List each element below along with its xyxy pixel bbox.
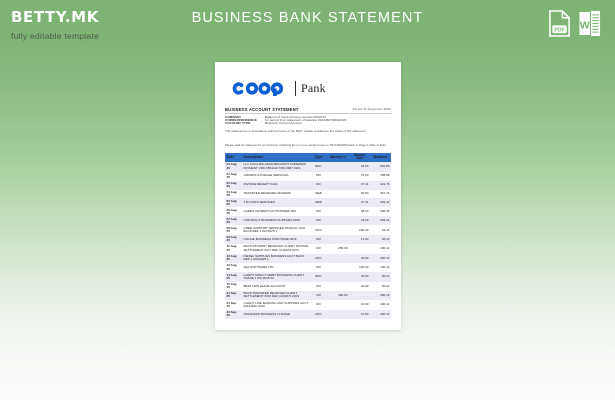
statement-document: Pank BUSINESS ACCOUNT STATEMENT Period 3… xyxy=(215,62,401,330)
cell-money-in xyxy=(327,313,349,315)
cell-type: DD xyxy=(310,173,327,179)
page-title: BUSINESS BANK STATEMENT xyxy=(0,10,615,26)
cell-description: DIESEL SUPPLIES BUSINESS ACCT BACS REF 1… xyxy=(242,254,310,263)
cell-type: DD xyxy=(310,265,327,271)
transactions-table: Date Description Type Money In Money Out… xyxy=(225,153,391,319)
brand-tagline: fully editable template xyxy=(11,31,99,41)
svg-text:PDF: PDF xyxy=(554,27,564,33)
cell-date: 13 Aug 25 xyxy=(225,263,242,272)
cell-money-in xyxy=(327,266,349,268)
cell-money-out: 60.00 xyxy=(349,191,370,197)
cell-money-out: 43.29 xyxy=(349,218,370,224)
cell-money-out: 74.00 xyxy=(349,173,370,179)
top-banner: BETTY.MK fully editable template BUSINES… xyxy=(0,0,615,56)
cell-type: DD xyxy=(310,302,327,308)
cell-date: 14 Aug 25 xyxy=(225,272,242,281)
cell-balance: 40.14 xyxy=(370,237,391,243)
cell-type: BAC xyxy=(310,164,327,170)
file-format-icons: PDF W xyxy=(548,10,601,37)
table-row: 01 Aug 25GRANDS STORAGE SERVICESDD74.004… xyxy=(225,172,391,181)
table-row: 11 Aug 25BACS PAYMENT RECEIVED CLIENT IN… xyxy=(225,244,391,254)
cell-money-out: 27.31 xyxy=(349,200,370,206)
bank-name: Pank xyxy=(301,81,326,96)
table-row: 02 Aug 25INVOICE RECEIPT 1021DD37.14421.… xyxy=(225,181,391,190)
table-row: 21 Sep 25BACS TRANSFER RECEIVED CLIENT S… xyxy=(225,291,391,301)
cell-description: STANDARD BUSINESS CHARGE xyxy=(242,311,310,317)
table-row: 04 Aug 25TRANSFER RECEIVED 21042026DEB60… xyxy=(225,190,391,199)
cell-balance: 450.14 xyxy=(370,293,391,299)
cell-money-in xyxy=(327,304,349,306)
cell-money-out: 37.14 xyxy=(349,182,370,188)
cell-money-in xyxy=(327,166,349,168)
cell-money-in xyxy=(327,276,349,278)
cell-description: TRANSFER RECEIVED 21042026 xyxy=(242,191,310,197)
column-header-date: Date xyxy=(225,155,242,161)
cell-description: LLC KOOL BALANCE BROUGHT FORWARD PAYMENT… xyxy=(242,162,310,171)
account-details-block: COMPANY CORRESPONDENCE ACCOUNT TYPE Bala… xyxy=(225,116,391,125)
cell-date: 04 Aug 25 xyxy=(225,190,242,199)
table-row: 12 Aug 25DIESEL SUPPLIES BUSINESS ACCT B… xyxy=(225,254,391,264)
cell-description: INVOICE RECEIPT 1021 xyxy=(242,182,310,188)
column-header-money-in: Money In xyxy=(327,155,349,161)
cell-balance: 296.43 xyxy=(370,209,391,215)
cell-balance: 361.74 xyxy=(370,191,391,197)
cell-money-in xyxy=(327,202,349,204)
table-row: 15 Aug 25BERT LEW LEASE ACCOUNTDD40.0050… xyxy=(225,282,391,291)
cell-balance: 130.14 xyxy=(370,265,391,271)
cell-money-in xyxy=(327,193,349,195)
table-row: 07 Aug 25CONTRACT BUSINESS SUPPLIES 0015… xyxy=(225,216,391,225)
cell-type: DD xyxy=(310,182,327,188)
cell-money-in xyxy=(327,257,349,259)
cell-type: DEB xyxy=(310,200,327,206)
cell-balance: 290.14 xyxy=(370,246,391,252)
cell-description: CLIENT LINE BANKING AND SUPPLIES ACCT 00… xyxy=(242,301,310,310)
svg-text:W: W xyxy=(580,19,590,31)
cell-type: FPO xyxy=(310,227,327,233)
cell-date: 07 Aug 25 xyxy=(225,216,242,225)
cell-date: 23 Sep 25 xyxy=(225,310,242,319)
word-file-icon[interactable]: W xyxy=(578,10,601,37)
cell-balance: 458.88 xyxy=(370,173,391,179)
cell-money-in: 400.00 xyxy=(327,293,349,299)
cell-description: CARDS PAYMENT AUTHORISED 003 xyxy=(242,209,310,215)
table-row: 13 Aug 25AZA SOFTWARE LTDDD120.00130.14 xyxy=(225,263,391,272)
cell-money-in: 250.00 xyxy=(327,246,349,252)
bank-logo: Pank xyxy=(231,80,326,97)
cell-date: 12 Aug 25 xyxy=(225,254,242,263)
pdf-file-icon[interactable]: PDF xyxy=(548,10,571,37)
cell-money-out: 40.00 xyxy=(349,283,370,289)
coop-wordmark-icon xyxy=(231,80,289,97)
table-header-row: Date Description Type Money In Money Out… xyxy=(225,153,391,162)
cell-date: 02 Aug 25 xyxy=(225,181,242,190)
statement-title: BUSINESS ACCOUNT STATEMENT xyxy=(225,107,299,112)
table-row: 06 Aug 25CARDS PAYMENT AUTHORISED 003DD3… xyxy=(225,207,391,216)
cell-type: DEB xyxy=(310,191,327,197)
cell-money-out: 40.00 xyxy=(349,255,370,261)
cell-money-out: 40.00 xyxy=(349,274,370,280)
column-header-description: Description xyxy=(242,155,310,161)
cell-balance: 90.14 xyxy=(370,274,391,280)
cell-money-in xyxy=(327,238,349,240)
cell-type: DD xyxy=(310,218,327,224)
cell-type: FPO xyxy=(310,311,327,317)
statement-note-primary: This statement is in accordance with the… xyxy=(225,130,391,133)
cell-date: 15 Aug 25 xyxy=(225,282,242,291)
cell-type: BAC xyxy=(310,274,327,280)
cell-description: CRED SUPPORT SERVICES PAYROLL AUG BACS R… xyxy=(242,226,310,235)
column-header-money-out: Money Out xyxy=(349,153,370,162)
cell-description: GRANDS STORAGE SERVICES xyxy=(242,173,310,179)
cell-money-out: 13.00 xyxy=(349,237,370,243)
cell-balance: 334.43 xyxy=(370,200,391,206)
cell-date: 21 Sep 25 xyxy=(225,291,242,300)
cell-money-out xyxy=(349,248,370,250)
cell-date: 01 Aug 25 xyxy=(225,162,242,171)
table-row: 01 Aug 25LLC KOOL BALANCE BROUGHT FORWAR… xyxy=(225,162,391,172)
cell-money-out: 120.00 xyxy=(349,265,370,271)
cell-date: 01 Aug 25 xyxy=(225,172,242,181)
cell-money-out: 10.00 xyxy=(349,302,370,308)
statement-note-secondary: Please wait for statement if you find an… xyxy=(225,144,391,147)
statement-date: Period 31 December 2025 xyxy=(353,107,391,111)
cell-type: DD xyxy=(310,209,327,215)
logo-divider xyxy=(295,81,296,96)
column-header-type: Type xyxy=(310,155,327,161)
cell-date: 08 Aug 25 xyxy=(225,226,242,235)
cell-money-in xyxy=(327,175,349,177)
column-header-balance: Balance xyxy=(370,155,391,161)
table-row: 14 Aug 25CLIENT DIRECT DEBIT BUSINESS CL… xyxy=(225,272,391,282)
cell-type: CR xyxy=(310,293,327,299)
cell-date: 09 Aug 25 xyxy=(225,235,242,244)
cell-money-out: 200.00 xyxy=(349,227,370,233)
cell-type: DD xyxy=(310,237,327,243)
cell-money-in xyxy=(327,184,349,186)
table-row: 05 Aug 25J M STAFF SERVICESDEB27.31334.4… xyxy=(225,198,391,207)
account-detail-labels: COMPANY CORRESPONDENCE ACCOUNT TYPE xyxy=(225,116,265,125)
table-row: 21 Sep 25CLIENT LINE BANKING AND SUPPLIE… xyxy=(225,300,391,310)
cell-type: FPO xyxy=(310,255,327,261)
cell-money-in xyxy=(327,229,349,231)
cell-money-out: 10.00 xyxy=(349,311,370,317)
cell-money-in xyxy=(327,220,349,222)
cell-money-out xyxy=(349,294,370,296)
cell-description: ONLINE BUSINESS PURCHASE 0016 xyxy=(242,237,310,243)
detail-label: ACCOUNT TYPE xyxy=(225,122,265,125)
detail-value: Business Current Account xyxy=(265,122,391,125)
table-body: 01 Aug 25LLC KOOL BALANCE BROUGHT FORWAR… xyxy=(225,162,391,319)
cell-balance: 253.14 xyxy=(370,218,391,224)
cell-balance: 440.14 xyxy=(370,302,391,308)
cell-date: 06 Aug 25 xyxy=(225,207,242,216)
cell-date: 11 Aug 25 xyxy=(225,244,242,253)
cell-description: BACS PAYMENT RECEIVED CLIENT INVOICE SET… xyxy=(242,244,310,253)
cell-balance: 53.14 xyxy=(370,227,391,233)
cell-money-in xyxy=(327,211,349,213)
cell-balance: 532.88 xyxy=(370,164,391,170)
cell-description: BERT LEW LEASE ACCOUNT xyxy=(242,283,310,289)
cell-type: DD xyxy=(310,283,327,289)
title-divider xyxy=(225,113,391,114)
table-row: 08 Aug 25CRED SUPPORT SERVICES PAYROLL A… xyxy=(225,225,391,235)
account-detail-values: Balance of Cash Account number 0240722 f… xyxy=(265,116,391,125)
cell-balance: 50.14 xyxy=(370,283,391,289)
cell-money-out: 52.00 xyxy=(349,164,370,170)
cell-date: 21 Sep 25 xyxy=(225,301,242,310)
cell-type: CR xyxy=(310,246,327,252)
cell-description: CONTRACT BUSINESS SUPPLIES 0015 xyxy=(242,218,310,224)
cell-money-in xyxy=(327,285,349,287)
cell-description: BACS TRANSFER RECEIVED CLIENT SETTLEMENT… xyxy=(242,291,310,300)
cell-balance: 250.14 xyxy=(370,255,391,261)
cell-balance: 421.74 xyxy=(370,182,391,188)
cell-money-out: 38.00 xyxy=(349,209,370,215)
cell-description: AZA SOFTWARE LTD xyxy=(242,265,310,271)
cell-date: 05 Aug 25 xyxy=(225,198,242,207)
table-row: 09 Aug 25ONLINE BUSINESS PURCHASE 0016DD… xyxy=(225,235,391,244)
cell-balance: 430.14 xyxy=(370,311,391,317)
table-row: 23 Sep 25STANDARD BUSINESS CHARGEFPO10.0… xyxy=(225,310,391,319)
cell-description: CLIENT DIRECT DEBIT BUSINESS CLIENT TRAD… xyxy=(242,272,310,281)
cell-description: J M STAFF SERVICES xyxy=(242,200,310,206)
